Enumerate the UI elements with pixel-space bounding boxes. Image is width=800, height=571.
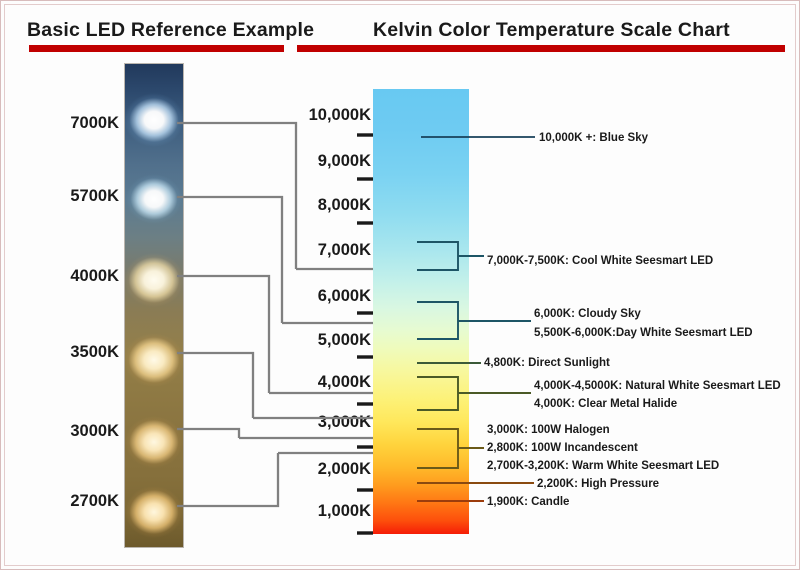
leader-warm-white-group	[417, 429, 484, 468]
kelvin-color-temperature-infographic: Basic LED Reference Example Kelvin Color…	[0, 0, 800, 570]
connector-lines-overlay	[1, 1, 800, 571]
leader-cool-white-led	[417, 242, 484, 270]
scale-minor-ticks	[357, 135, 373, 533]
led-to-scale-connectors	[177, 123, 373, 506]
leader-cloudy-sky-day-white	[417, 302, 531, 339]
leader-natural-white-metal-halide	[417, 377, 531, 410]
